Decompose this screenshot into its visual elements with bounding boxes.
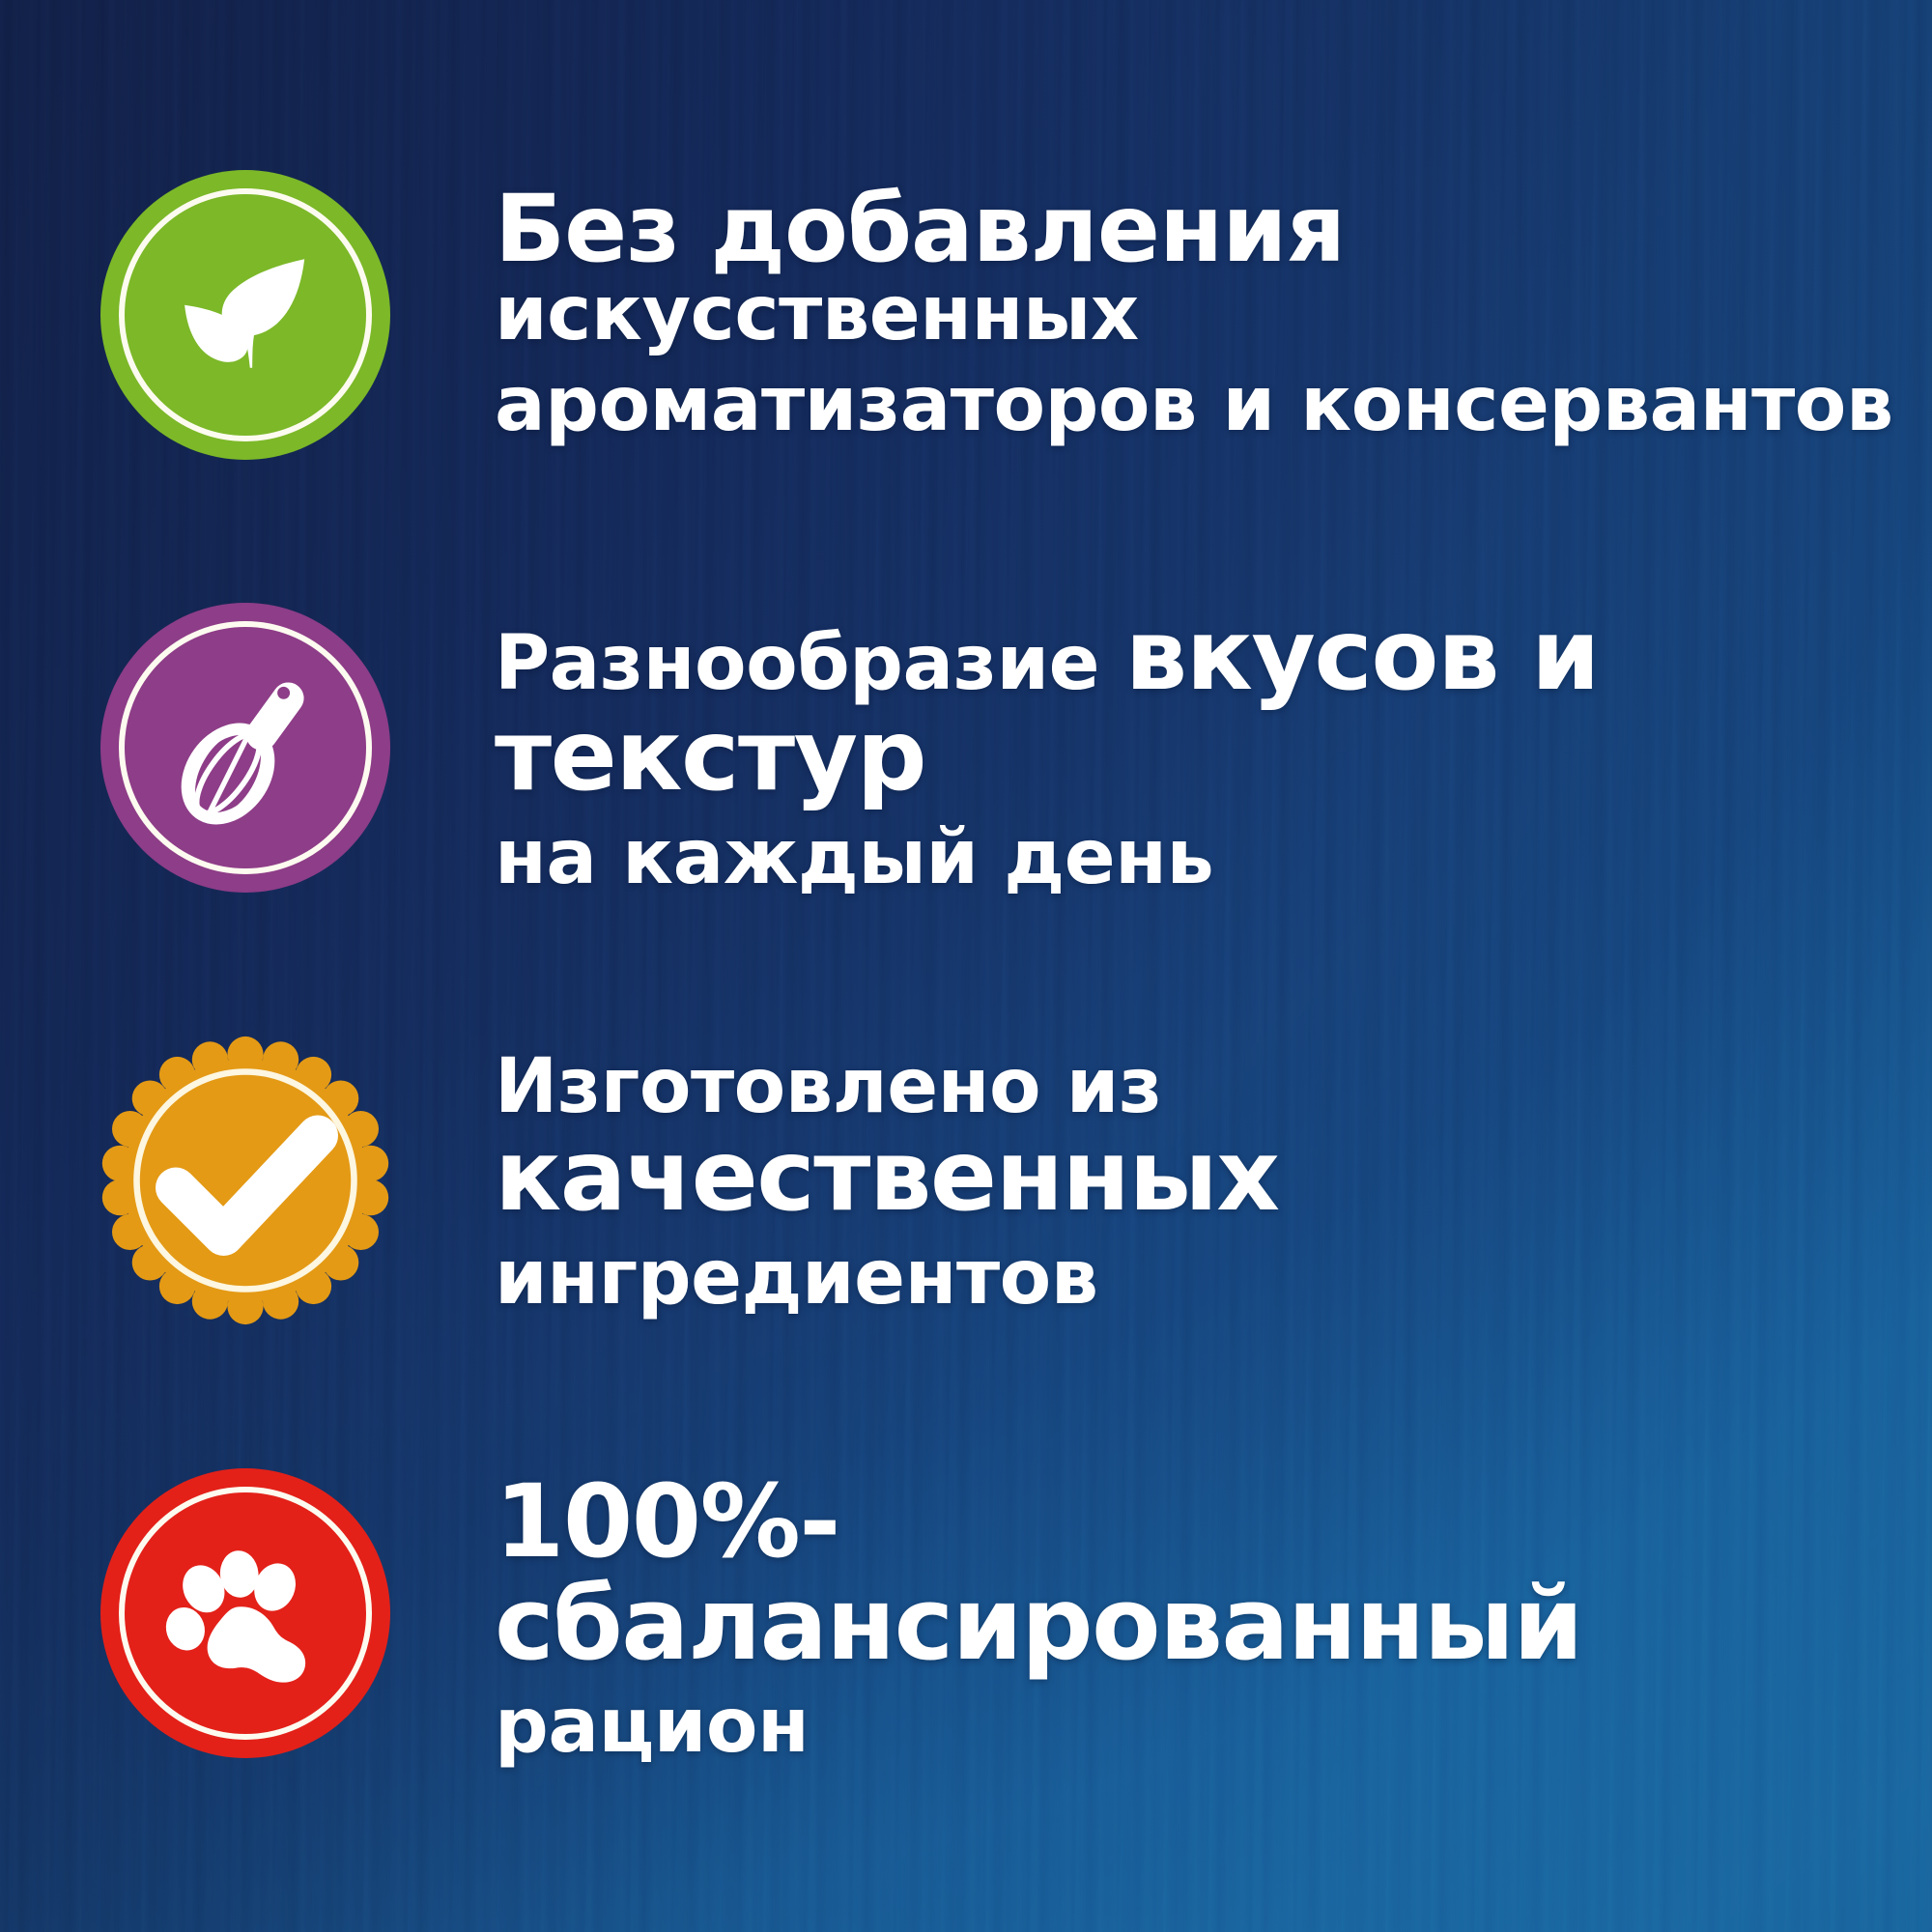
whisk-icon	[100, 603, 390, 893]
feature-line-4b: рацион	[495, 1689, 1924, 1766]
feature-row-balanced-diet: 100%- сбалансированный рацион	[0, 1439, 1932, 1787]
paw-print-icon	[100, 1468, 390, 1758]
feature-line-2a: Разнообразие вкусов и текстур	[495, 606, 1924, 807]
feature-icon-wrap-1	[100, 170, 390, 460]
feature-line-3a: Изготовлено из качественных	[495, 1049, 1924, 1227]
feature-emphasis-3: качественных	[495, 1119, 1279, 1234]
leaf-sprout-icon	[100, 170, 390, 460]
feature-text-4: 100%- сбалансированный рацион	[495, 1470, 1924, 1766]
feature-line-4a: 100%- сбалансированный	[495, 1470, 1924, 1675]
feature-icon-wrap-4	[100, 1468, 390, 1758]
banner-canvas: Без добавления искусственных ароматизато…	[0, 0, 1932, 1932]
feature-row-quality-ingredients: Изготовлено из качественных ингредиентов	[0, 1007, 1932, 1354]
feature-row-no-artificial-additives: Без добавления искусственных ароматизато…	[0, 141, 1932, 489]
feature-list: Без добавления искусственных ароматизато…	[0, 0, 1932, 1932]
feature-icon-wrap-3	[100, 1036, 390, 1325]
feature-icon-wrap-2	[100, 603, 390, 893]
checkmark-badge-icon	[100, 1036, 390, 1325]
feature-row-variety-of-flavours: Разнообразие вкусов и текстур на каждый …	[0, 574, 1932, 922]
feature-line-3b: ингредиентов	[495, 1240, 1924, 1318]
feature-text-1: Без добавления искусственных ароматизато…	[495, 183, 1924, 444]
feature-text-3: Изготовлено из качественных ингредиентов	[495, 1049, 1924, 1317]
feature-line-1b: ароматизаторов и консервантов	[495, 367, 1924, 444]
feature-lead-2: Разнообразие	[495, 620, 1125, 707]
feature-line-2b: на каждый день	[495, 820, 1924, 897]
feature-text-2: Разнообразие вкусов и текстур на каждый …	[495, 606, 1924, 897]
feature-emphasis-1: Без добавления	[495, 175, 1345, 283]
scallop-edge	[100, 1036, 390, 1325]
feature-line-1a: Без добавления искусственных	[495, 183, 1924, 354]
feature-rest-1: искусственных	[495, 270, 1139, 357]
feature-lead-3: Изготовлено из	[495, 1043, 1162, 1130]
